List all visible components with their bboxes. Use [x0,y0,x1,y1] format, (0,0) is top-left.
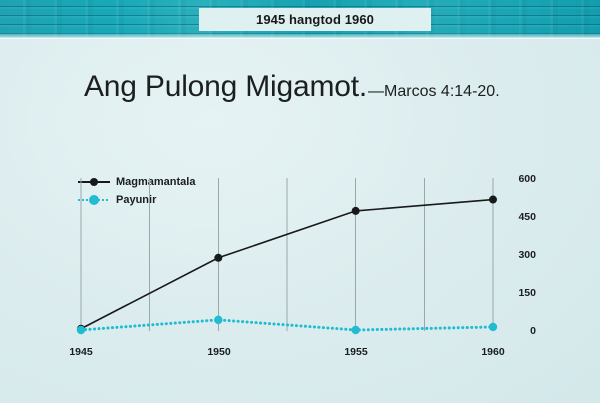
legend-item-payunir: Payunir [78,191,195,209]
legend-marker-dotted-icon [78,194,110,206]
data-point [214,254,222,262]
chart-legend: Magmamantala Payunir [78,173,195,209]
series-line-magmamantala [81,200,493,329]
data-point [351,326,359,334]
x-tick-label-1945: 1945 [61,346,101,358]
data-point [489,323,497,331]
y-tick-label-450: 450 [498,211,536,223]
header-fade-edge [0,33,600,39]
date-range-label: 1945 hangtod 1960 [256,12,374,27]
legend-item-magmamantala: Magmamantala [78,173,195,191]
data-point [77,325,85,333]
x-tick-label-1955: 1955 [336,346,376,358]
legend-label-payunir: Payunir [116,194,156,206]
y-tick-label-600: 600 [498,173,536,185]
date-range-banner: 1945 hangtod 1960 [199,8,431,31]
y-tick-label-0: 0 [498,325,536,337]
slide-canvas: 1945 hangtod 1960 Ang Pulong Migamot. —M… [0,0,600,403]
legend-label-magmamantala: Magmamantala [116,176,195,188]
data-point [352,207,360,215]
data-point [214,316,222,324]
series-line-payunir [81,320,493,330]
data-point [77,326,85,334]
y-tick-label-300: 300 [498,249,536,261]
x-tick-label-1950: 1950 [199,346,239,358]
legend-marker-solid-icon [78,176,110,188]
x-tick-label-1960: 1960 [473,346,513,358]
y-tick-label-150: 150 [498,287,536,299]
page-title: Ang Pulong Migamot. —Marcos 4:14-20. [84,70,500,104]
title-main-text: Ang Pulong Migamot. [84,70,367,104]
data-point [489,196,497,204]
title-scripture-reference: —Marcos 4:14-20. [368,83,500,101]
